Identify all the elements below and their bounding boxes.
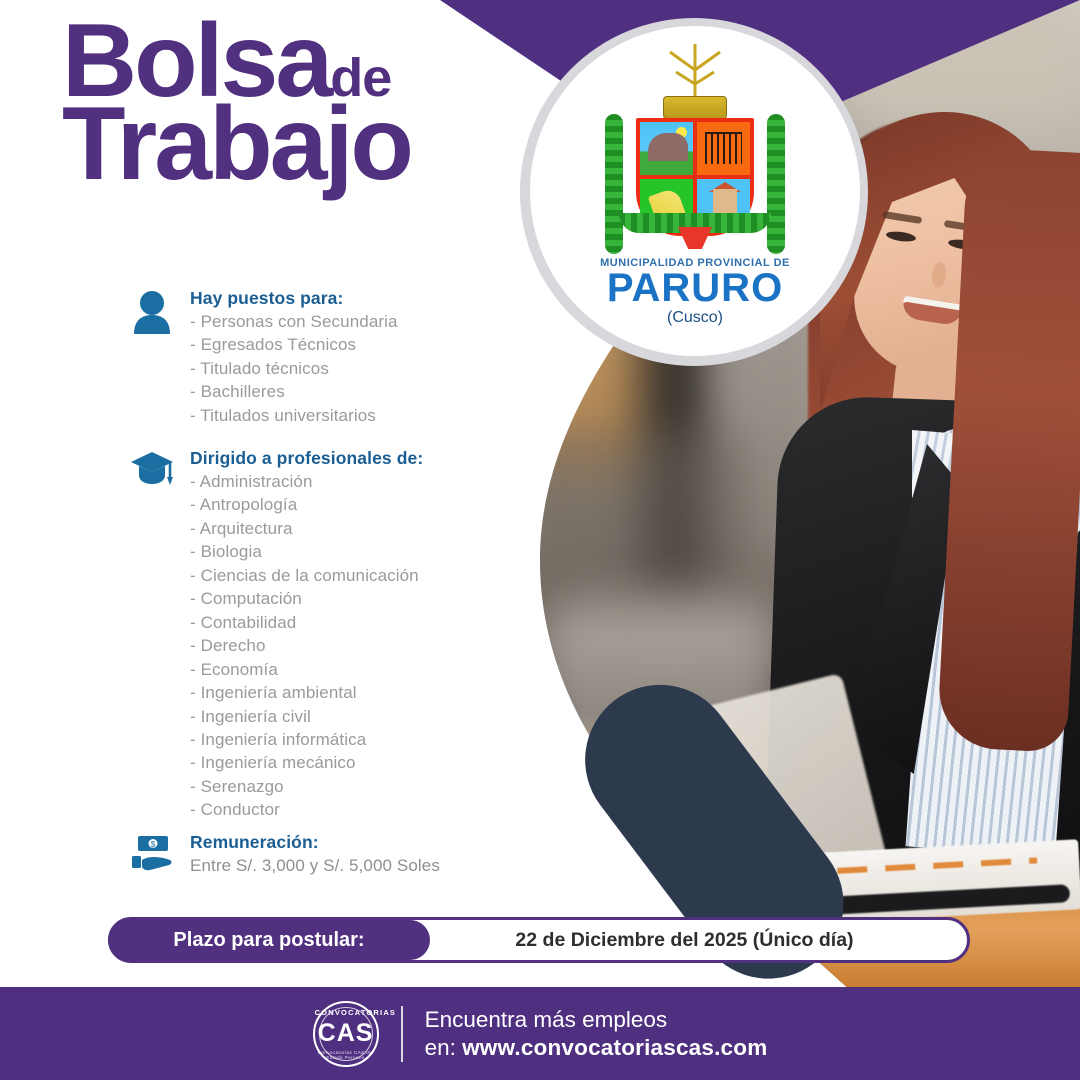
list-item: - Egresados Técnicos bbox=[190, 333, 398, 356]
footer-line1: Encuentra más empleos bbox=[425, 1006, 768, 1033]
title-de: de bbox=[330, 48, 391, 108]
list-item: - Arquitectura bbox=[190, 517, 423, 540]
list-item: - Ciencias de la comunicación bbox=[190, 564, 423, 587]
section-puestos: Hay puestos para: - Personas con Secunda… bbox=[128, 288, 398, 427]
deadline-value: 22 de Diciembre del 2025 (Único día) bbox=[430, 929, 967, 952]
list-item: - Economía bbox=[190, 658, 423, 681]
footer-bar: CONVOCATORIAS CAS Convocatorias CAS del … bbox=[0, 987, 1080, 1080]
list-item: - Contabilidad bbox=[190, 611, 423, 634]
list-item: - Administración bbox=[190, 470, 423, 493]
list-item: - Biologia bbox=[190, 540, 423, 563]
title-underline-rule bbox=[76, 242, 468, 257]
list-item: - Ingeniería ambiental bbox=[190, 681, 423, 704]
poster-title: Bolsade Trabajo bbox=[62, 18, 492, 191]
list-item: - Ingeniería civil bbox=[190, 705, 423, 728]
graduation-cap-icon bbox=[128, 448, 176, 822]
section-profesionales: Dirigido a profesionales de: - Administr… bbox=[128, 448, 423, 822]
list-item: - Ingeniería informática bbox=[190, 728, 423, 751]
emblem-name: PARURO bbox=[607, 269, 783, 307]
list-item: - Personas con Secundaria bbox=[190, 310, 398, 333]
section-heading: Remuneración: bbox=[190, 832, 440, 853]
coat-of-arms-icon bbox=[595, 40, 795, 255]
cas-logo-arc-bottom: Convocatorias CAS del Estado Peruano bbox=[315, 1050, 377, 1060]
municipality-emblem: MUNICIPALIDAD PROVINCIAL DE PARURO (Cusc… bbox=[530, 26, 860, 356]
cas-logo-arc-top: CONVOCATORIAS bbox=[315, 1008, 377, 1017]
salary-range: Entre S/. 3,000 y S/. 5,000 Soles bbox=[190, 854, 440, 877]
footer-line2-prefix: en: bbox=[425, 1035, 463, 1060]
cas-logo-icon: CONVOCATORIAS CAS Convocatorias CAS del … bbox=[313, 1001, 379, 1067]
deadline-label: Plazo para postular: bbox=[108, 920, 430, 960]
list-item: - Titulado técnicos bbox=[190, 357, 398, 380]
person-icon bbox=[128, 288, 176, 427]
job-posting-poster: MUNICIPALIDAD PROVINCIAL DE PARURO (Cusc… bbox=[0, 0, 1080, 1080]
deadline-bar: Plazo para postular: 22 de Diciembre del… bbox=[108, 917, 970, 963]
footer-text: Encuentra más empleos en: www.convocator… bbox=[425, 1006, 768, 1061]
list-item: - Bachilleres bbox=[190, 380, 398, 403]
list-item: - Computación bbox=[190, 587, 423, 610]
list-item: - Conductor bbox=[190, 798, 423, 821]
list-item: - Serenazgo bbox=[190, 775, 423, 798]
section-heading: Dirigido a profesionales de: bbox=[190, 448, 423, 469]
svg-text:$: $ bbox=[151, 840, 156, 849]
list-item: - Derecho bbox=[190, 634, 423, 657]
footer-website-link[interactable]: www.convocatoriascas.com bbox=[462, 1035, 767, 1060]
list-item: - Ingeniería mecánico bbox=[190, 751, 423, 774]
emblem-city: (Cusco) bbox=[667, 309, 723, 327]
footer-divider bbox=[401, 1006, 403, 1062]
section-remuneracion: $ Remuneración: Entre S/. 3,000 y S/. 5,… bbox=[128, 832, 440, 877]
section-heading: Hay puestos para: bbox=[190, 288, 398, 309]
plume-icon bbox=[650, 40, 740, 102]
cas-logo-text: CAS bbox=[318, 1019, 374, 1048]
title-line1: Bolsa bbox=[62, 3, 330, 119]
list-item: - Titulados universitarios bbox=[190, 404, 398, 427]
money-hand-icon: $ bbox=[128, 832, 176, 877]
list-item: - Antropología bbox=[190, 493, 423, 516]
